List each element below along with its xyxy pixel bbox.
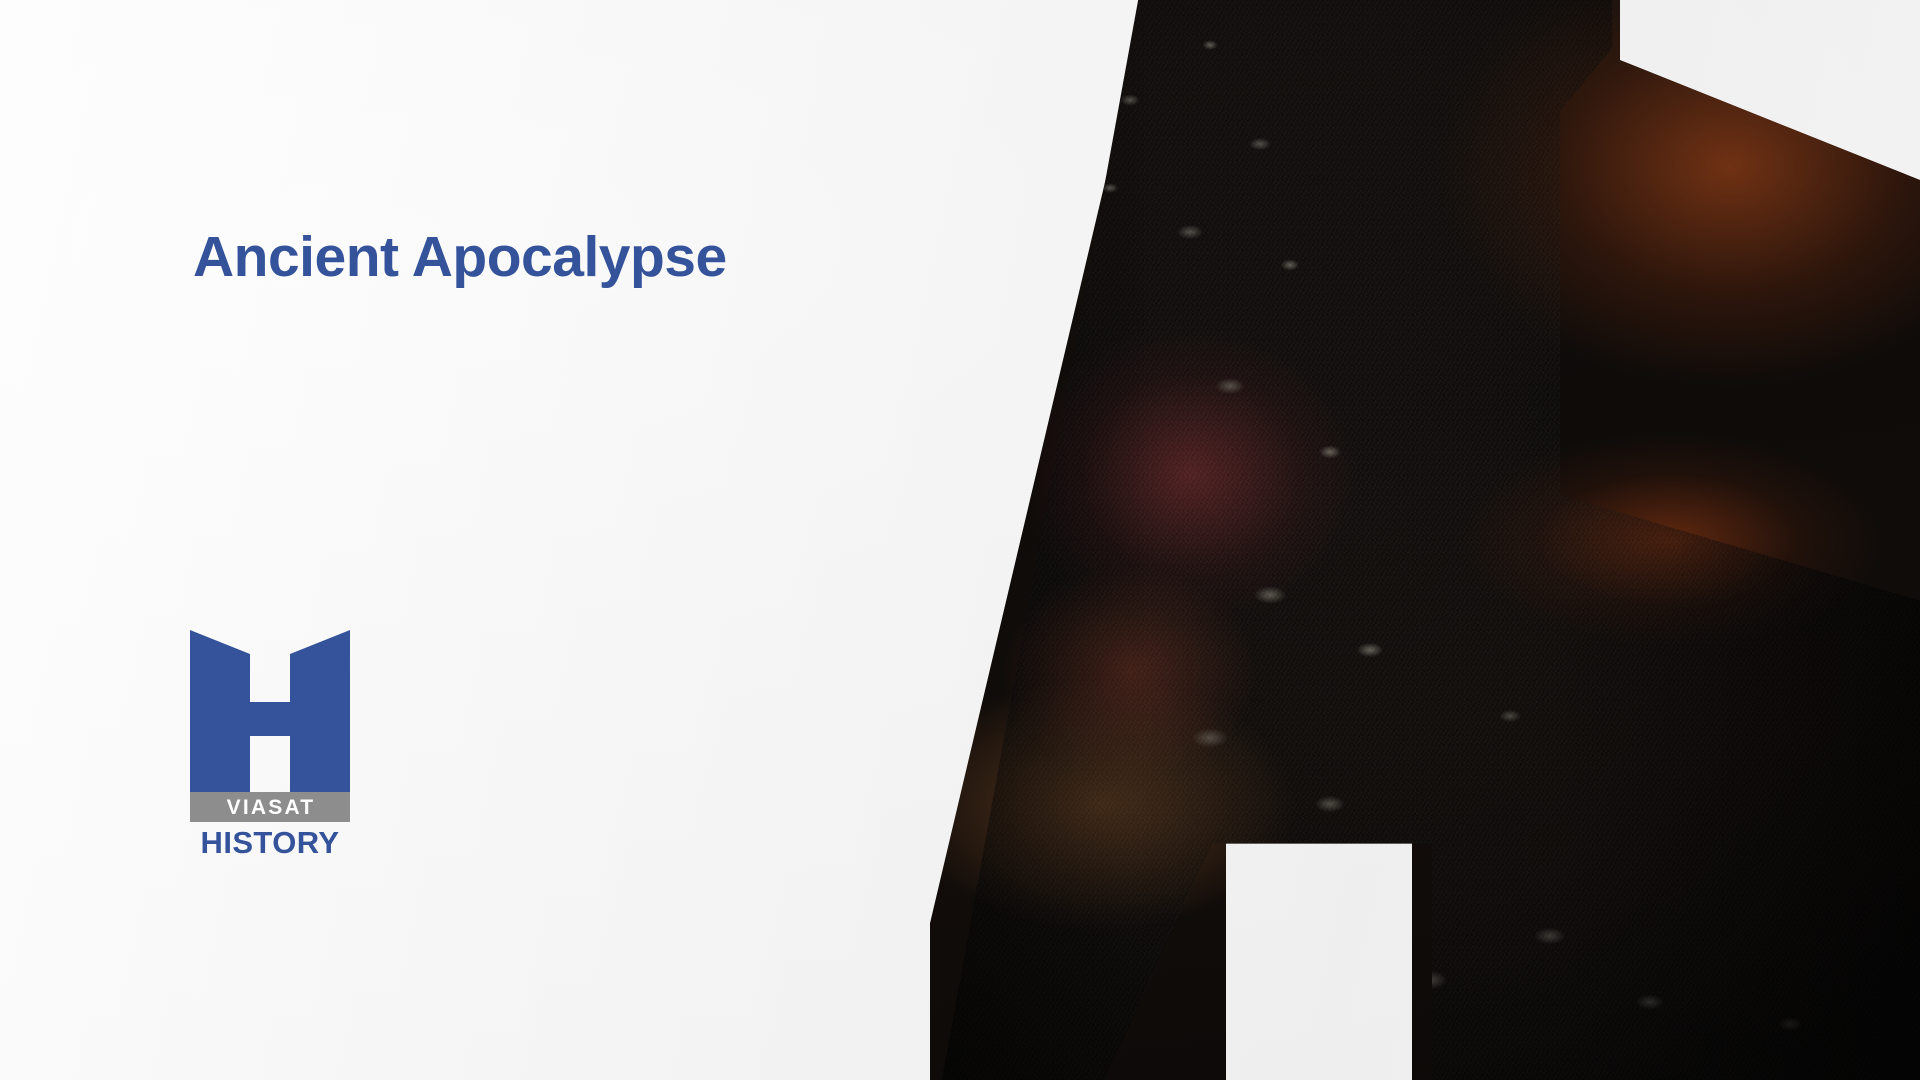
viasat-history-h-mark-icon <box>190 624 350 792</box>
channel-logo: VIASAT HISTORY <box>190 624 350 859</box>
viasat-wordmark-text: VIASAT <box>225 797 316 818</box>
history-wordmark-text: HISTORY <box>190 827 350 858</box>
programme-title: Ancient Apocalypse <box>193 224 727 290</box>
ident-stage: Ancient Apocalypse VIASAT HISTORY <box>0 0 1920 1080</box>
viasat-wordmark-bar: VIASAT <box>190 792 350 822</box>
